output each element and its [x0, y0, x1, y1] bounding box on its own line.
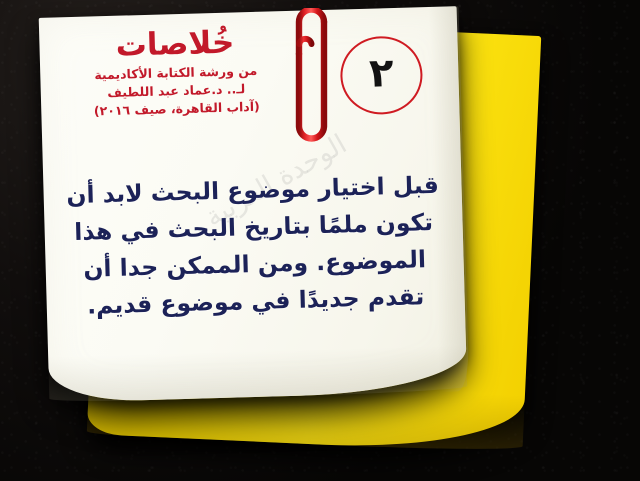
note-body-text: قبل اختيار موضوع البحث لابد أن تكون ملمً…	[65, 167, 443, 326]
badge-number-label: ٢	[369, 53, 395, 94]
screenshot-canvas: الوحدة العربية خُلاصات من ورشة الكتابة ا…	[0, 0, 640, 481]
white-note-card: الوحدة العربية خُلاصات من ورشة الكتابة ا…	[39, 6, 468, 403]
page-title: خُلاصات	[67, 25, 283, 64]
note-header: خُلاصات من ورشة الكتابة الأكاديمية لـ.. …	[67, 25, 284, 121]
number-badge: ٢	[339, 35, 423, 115]
note-content-area: الوحدة العربية خُلاصات من ورشة الكتابة ا…	[39, 6, 468, 403]
